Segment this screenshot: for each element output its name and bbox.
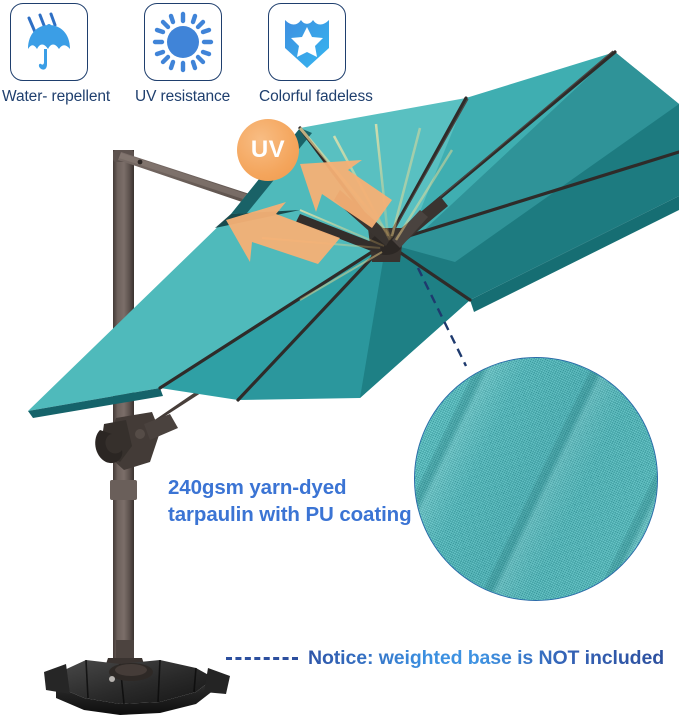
fabric-callout-line1: 240gsm yarn-dyed — [168, 474, 412, 501]
cantilever-strut — [128, 252, 404, 440]
fabric-callout-text: 240gsm yarn-dyed tarpaulin with PU coati… — [168, 474, 412, 528]
notice-text: Notice: weighted base is NOT included — [308, 647, 664, 670]
feature-badge-water-repellent[interactable] — [10, 3, 88, 81]
fabric-leader-line — [418, 268, 466, 366]
fabric-callout-line2: tarpaulin with PU coating — [168, 501, 412, 528]
infographic-canvas: UV — [0, 0, 679, 715]
feature-badge-colorful-fadeless[interactable] — [268, 3, 346, 81]
canopy-hub — [296, 190, 448, 262]
sun-icon — [145, 4, 221, 80]
notice-dashed-line — [226, 657, 298, 660]
umbrella-rain-icon — [11, 4, 87, 80]
uv-sun-badge: UV — [237, 119, 299, 181]
weighted-base — [44, 640, 230, 715]
feature-badge-label-water-repellent: Water- repellent — [2, 88, 110, 106]
fabric-weave-texture — [415, 358, 657, 600]
feature-badge-row: Water- repellent UV resistance Colorful … — [0, 0, 400, 112]
fabric-zoom-circle — [414, 357, 658, 601]
shield-star-icon — [269, 4, 345, 80]
feature-badge-label-uv-resistance: UV resistance — [135, 88, 230, 106]
feature-badge-uv-resistance[interactable] — [144, 3, 222, 81]
feature-badge-label-colorful-fadeless: Colorful fadeless — [259, 88, 373, 106]
umbrella-pole — [110, 150, 137, 660]
tilt-pivot-handle — [95, 412, 178, 470]
uv-badge-label: UV — [251, 138, 285, 162]
notice-row: Notice: weighted base is NOT included — [226, 645, 664, 671]
